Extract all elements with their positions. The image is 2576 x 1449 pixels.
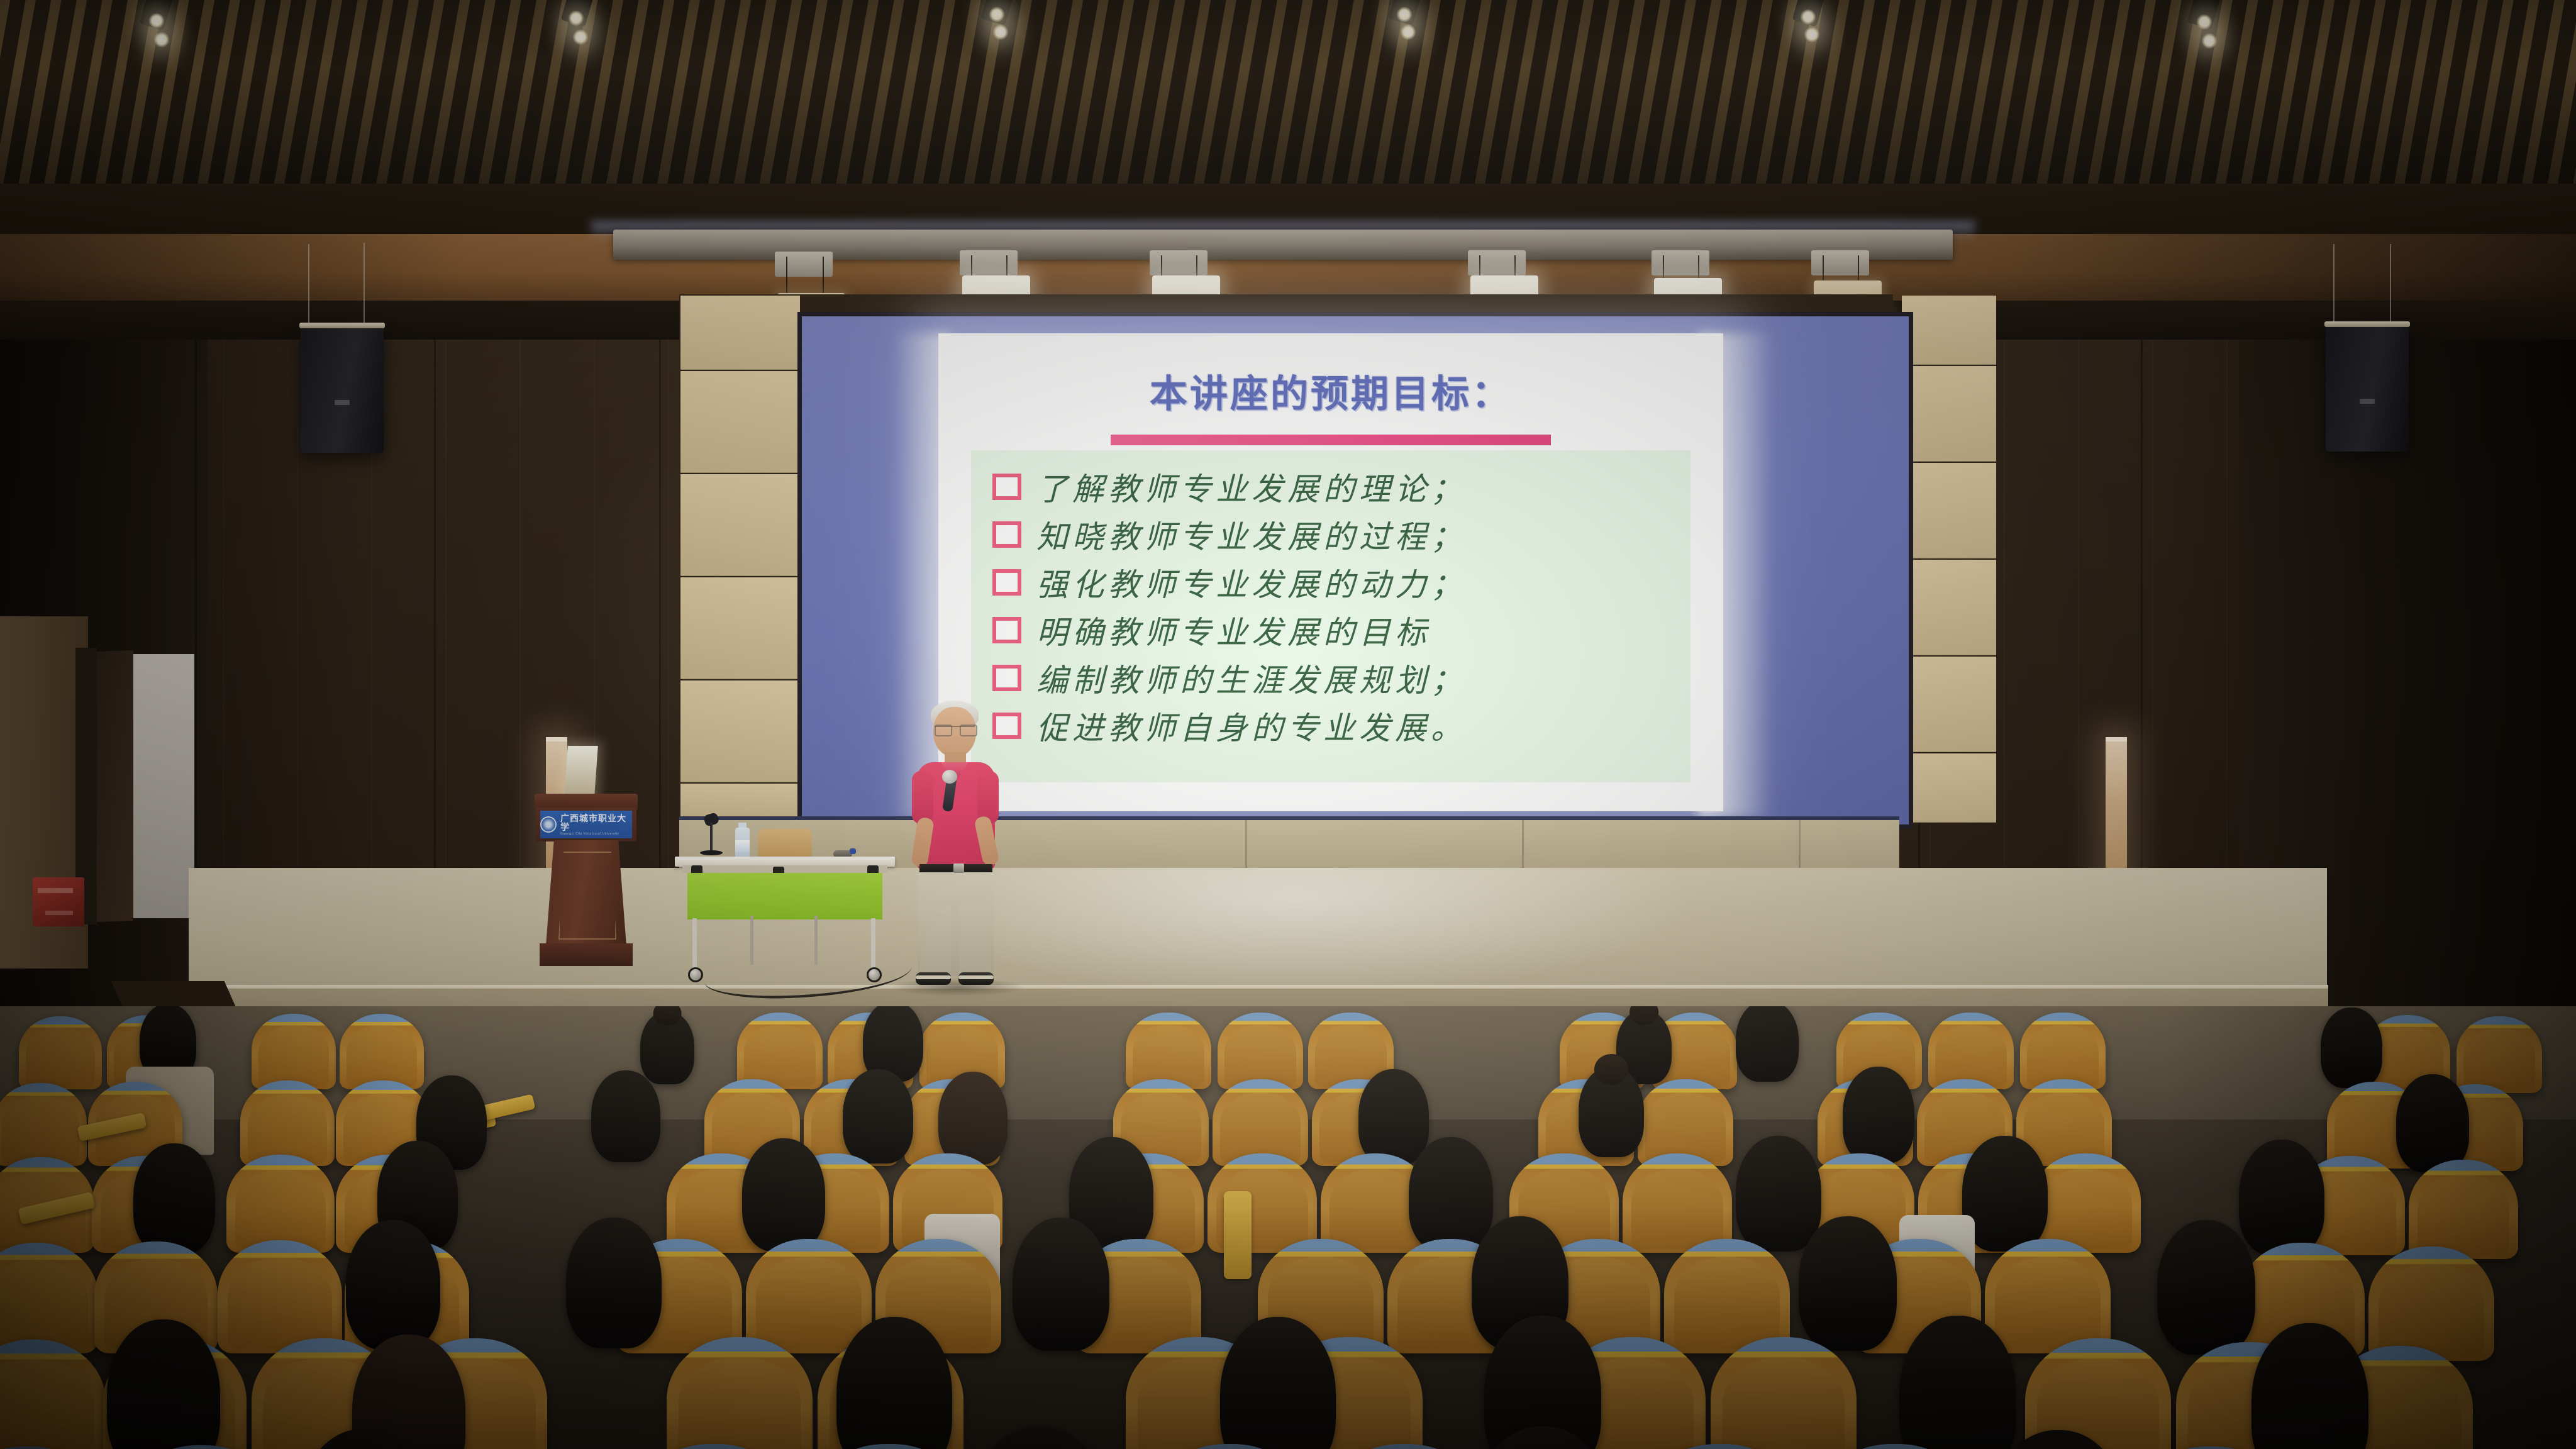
wall-tan-panel bbox=[1902, 560, 1996, 655]
checkbox-icon bbox=[992, 521, 1021, 548]
audience-seating-area bbox=[0, 1006, 2576, 1449]
side-door-opening[interactable] bbox=[128, 654, 194, 918]
checkbox-icon bbox=[992, 617, 1021, 643]
checkbox-icon bbox=[992, 665, 1021, 691]
speaker-suspension-wire bbox=[308, 244, 309, 326]
projection-screen: 本讲座的预期目标： 了解教师专业发展的理论； 知晓教师专业发展的过程； 强化教师… bbox=[938, 333, 1723, 811]
podium-sign-texts: 广西城市职业大学 Guangxi City Vocational Univers… bbox=[560, 814, 632, 836]
speaker-top-face bbox=[299, 323, 385, 328]
slide-bullet-text: 强化教师专业发展的动力； bbox=[1036, 560, 1467, 605]
audience-vignette bbox=[0, 1006, 2576, 1449]
podium-base bbox=[540, 943, 633, 966]
presenter-leg bbox=[919, 904, 951, 975]
ceiling-spot-light bbox=[1800, 9, 1816, 25]
sandal-strap bbox=[958, 975, 994, 979]
speaker-top-face bbox=[2324, 321, 2410, 327]
wall-sconce-cap bbox=[546, 737, 567, 741]
podium-sign: 广西城市职业大学 Guangxi City Vocational Univers… bbox=[540, 811, 632, 838]
ceiling-spot-light bbox=[989, 6, 1005, 23]
fire-extinguisher-label bbox=[38, 888, 73, 893]
slide-bullet-list: 了解教师专业发展的理论； 知晓教师专业发展的过程； 强化教师专业发展的动力； 明… bbox=[971, 450, 1690, 782]
presenter-person bbox=[896, 697, 1015, 992]
slide-bullet-text: 促进教师自身的专业发展。 bbox=[1036, 703, 1467, 748]
truss-wire bbox=[823, 257, 824, 296]
lectern-podium[interactable]: 广西城市职业大学 Guangxi City Vocational Univers… bbox=[542, 794, 630, 962]
hanging-loudspeaker bbox=[2326, 326, 2409, 452]
ceiling-spot-light bbox=[1400, 24, 1416, 40]
wall-tan-panel bbox=[1902, 296, 1996, 365]
truss-fixture-housing bbox=[1652, 250, 1709, 275]
slide-bullet-row: 促进教师自身的专业发展。 bbox=[992, 703, 1690, 748]
presenter-remote-tip bbox=[850, 848, 856, 854]
truss-fixture-housing bbox=[1150, 250, 1207, 275]
slide-bullet-text: 知晓教师专业发展的过程； bbox=[1036, 512, 1467, 557]
wall-tan-panel bbox=[1902, 753, 1996, 823]
wall-tan-panel bbox=[1902, 366, 1996, 462]
wall-tan-panel bbox=[680, 784, 800, 821]
podium-sign-english: Guangxi City Vocational University bbox=[560, 833, 632, 836]
presenter-sleeve bbox=[977, 771, 999, 824]
table-leg bbox=[692, 918, 697, 971]
slide-bullet-row: 知晓教师专业发展的过程； bbox=[992, 512, 1690, 557]
wall-tan-panel bbox=[680, 296, 800, 370]
eyeglasses-icon bbox=[935, 726, 975, 735]
ceiling-spot-light bbox=[153, 31, 170, 48]
sandal-strap bbox=[916, 975, 951, 979]
mic-stand-rod bbox=[710, 823, 713, 852]
wall-tan-panel bbox=[680, 680, 800, 782]
belt-buckle bbox=[953, 863, 964, 873]
presenter-sandal bbox=[958, 972, 994, 985]
wall-tan-panel bbox=[1902, 657, 1996, 752]
slide-bullet-row: 编制教师的生涯发展规划； bbox=[992, 655, 1690, 701]
slide-title-rule bbox=[1111, 435, 1551, 445]
ceiling-shading bbox=[0, 0, 2576, 189]
wall-tan-panel bbox=[680, 577, 800, 679]
fire-extinguisher-label bbox=[45, 911, 73, 915]
slide-bullet-text: 了解教师专业发展的理论； bbox=[1036, 464, 1467, 509]
podium-sign-frame: 广西城市职业大学 Guangxi City Vocational Univers… bbox=[536, 808, 636, 841]
slide-bullet-row: 了解教师专业发展的理论； bbox=[992, 464, 1690, 509]
truss-wire bbox=[786, 257, 787, 296]
truss-fixture-housing bbox=[960, 250, 1018, 275]
ceiling-spot-light bbox=[148, 13, 165, 29]
hanging-loudspeaker bbox=[301, 327, 384, 453]
table-caster-wheel bbox=[688, 967, 703, 982]
ceiling-spot-light bbox=[572, 29, 589, 45]
speaker-suspension-wire bbox=[2333, 244, 2334, 325]
ceiling-spot-light bbox=[1804, 26, 1820, 43]
podium-inset-trim bbox=[558, 852, 616, 940]
slide-bullet-text: 明确教师专业发展的目标 bbox=[1036, 608, 1431, 653]
checkbox-icon bbox=[992, 569, 1021, 596]
fire-extinguisher-box bbox=[33, 877, 84, 926]
ceiling-spot-light bbox=[1396, 6, 1413, 23]
microphone-capsule bbox=[942, 770, 957, 784]
speaker-suspension-wire bbox=[2390, 244, 2391, 325]
presenter-sandal bbox=[916, 972, 951, 985]
wall-tan-panel bbox=[680, 371, 800, 473]
side-door-leaf[interactable] bbox=[94, 650, 133, 922]
truss-fixture-housing bbox=[1811, 250, 1869, 275]
podium-sign-chinese: 广西城市职业大学 bbox=[560, 814, 632, 831]
ceiling-spot-light bbox=[568, 10, 584, 26]
slide-title: 本讲座的预期目标： bbox=[938, 364, 1723, 418]
water-bottle-label bbox=[735, 840, 750, 852]
presenter-sleeve bbox=[912, 771, 933, 824]
ceiling-spot-light bbox=[2201, 33, 2218, 49]
wall-tan-panel bbox=[680, 474, 800, 576]
checkbox-icon bbox=[992, 474, 1021, 500]
university-logo-icon bbox=[540, 816, 557, 833]
presentation-slide: 本讲座的预期目标： 了解教师专业发展的理论； 知晓教师专业发展的过程； 强化教师… bbox=[938, 333, 1723, 811]
podium-paper-sheet bbox=[564, 746, 598, 796]
table-modesty-panel bbox=[687, 873, 882, 919]
ceiling-spot-light bbox=[2196, 14, 2212, 30]
truss-fixture-housing bbox=[775, 252, 833, 277]
mic-stand-base bbox=[700, 850, 723, 855]
wall-sconce-cap bbox=[2106, 737, 2127, 741]
slide-bullet-text: 编制教师的生涯发展规划； bbox=[1036, 655, 1467, 701]
wall-tan-panel bbox=[1902, 463, 1996, 558]
speaker-suspension-wire bbox=[364, 243, 365, 326]
slide-bullet-row: 明确教师专业发展的目标 bbox=[992, 608, 1690, 653]
presenter-leg bbox=[960, 904, 991, 975]
slide-bullet-row: 强化教师专业发展的动力； bbox=[992, 560, 1690, 605]
auditorium-photo: 本讲座的预期目标： 了解教师专业发展的理论； 知晓教师专业发展的过程； 强化教师… bbox=[0, 0, 2576, 1449]
table-apron bbox=[682, 865, 887, 873]
truss-fixture-housing bbox=[1468, 250, 1526, 275]
speaker-brand-logo bbox=[2360, 399, 2375, 404]
ceiling-spot-light bbox=[992, 24, 1009, 40]
speaker-brand-logo bbox=[335, 400, 350, 405]
